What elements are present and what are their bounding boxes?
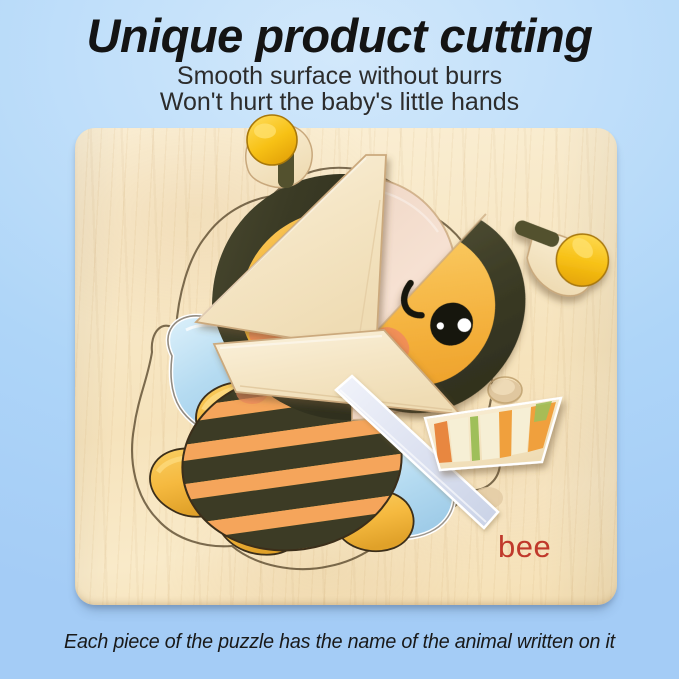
subtitle-line-1: Smooth surface without burrs: [0, 62, 679, 90]
product-image-canvas: Unique product cutting Smooth surface wi…: [0, 0, 679, 679]
animal-name-label: bee: [498, 529, 551, 565]
subtitle-line-2: Won't hurt the baby's little hands: [0, 88, 679, 116]
page-title: Unique product cutting: [0, 8, 679, 64]
footer-caption: Each piece of the puzzle has the name of…: [14, 630, 666, 654]
